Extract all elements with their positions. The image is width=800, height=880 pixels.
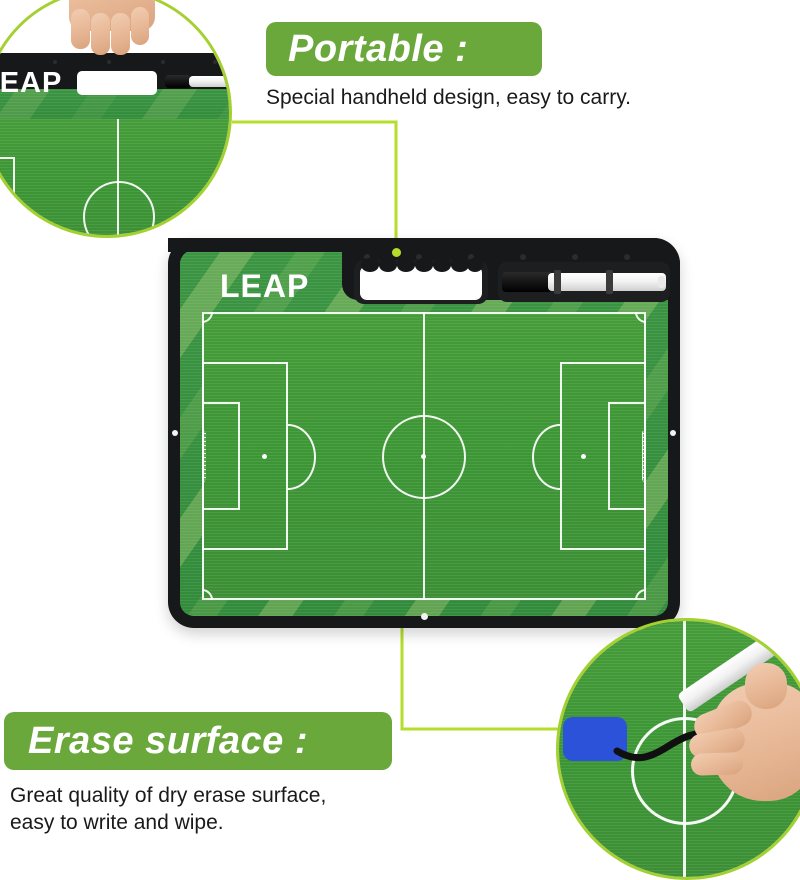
- center-spot: [421, 454, 426, 459]
- tactics-board: LEAP: [168, 238, 680, 628]
- soccer-pitch: [202, 312, 646, 600]
- frame-dot-left: [172, 430, 178, 436]
- marker-closeup: [165, 73, 232, 89]
- goal-area-left: [202, 402, 240, 510]
- description-portable: Special handheld design, easy to carry.: [266, 84, 786, 111]
- penalty-spot-right: [581, 454, 586, 459]
- hand-grip-closeup: [63, 0, 159, 79]
- brand-logo-text: LEAP: [220, 268, 309, 304]
- goal-net-right: [642, 430, 646, 482]
- heading-text-portable: Portable :: [288, 28, 468, 71]
- frame-dot: [572, 254, 578, 260]
- hand-writing-closeup: [687, 649, 800, 839]
- inset-writing-closeup: [556, 618, 800, 880]
- heading-badge-erase-surface: Erase surface :: [4, 712, 392, 770]
- heading-badge-portable: Portable :: [266, 22, 542, 76]
- inset-handle-closeup: LEAP: [0, 0, 232, 238]
- goal-net-left: [202, 430, 206, 482]
- penalty-spot-left: [262, 454, 267, 459]
- frame-dot: [624, 254, 630, 260]
- heading-text-erase-surface: Erase surface :: [28, 720, 308, 763]
- callout-anchor-handle: [392, 248, 401, 257]
- board-face: LEAP: [180, 250, 668, 616]
- description-erase-surface: Great quality of dry erase surface, easy…: [10, 782, 480, 836]
- pitch-closeup: [0, 119, 232, 238]
- frame-dot-bottom: [421, 613, 428, 620]
- brand-logo-text-closeup: LEAP: [0, 67, 62, 99]
- infographic-canvas: LEAP Porta: [0, 0, 800, 857]
- brand-logo-closeup: LEAP: [0, 67, 62, 100]
- brand-logo: LEAP: [220, 268, 309, 305]
- marker-cap: [502, 272, 552, 292]
- marker-pen[interactable]: [502, 268, 668, 296]
- goal-area-right: [608, 402, 646, 510]
- frame-dot: [520, 254, 526, 260]
- board-top-bar-left: [168, 238, 348, 252]
- frame-dot-right: [670, 430, 676, 436]
